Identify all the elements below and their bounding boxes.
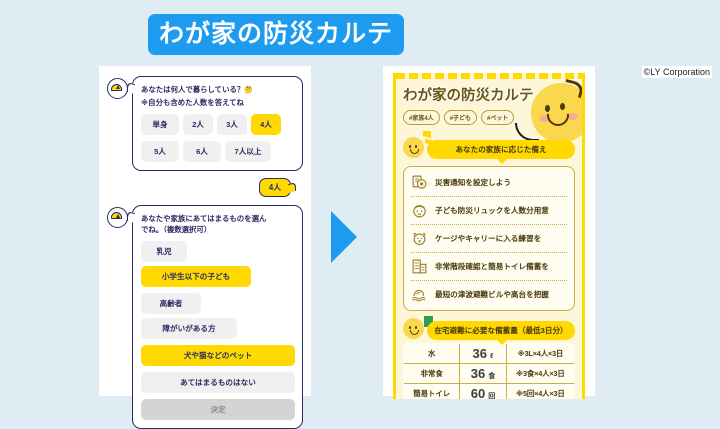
mascot-mini-icon xyxy=(403,137,424,158)
stock-item: 非常食 xyxy=(404,364,460,384)
option-6nin[interactable]: 6人 xyxy=(183,141,221,162)
option-2nin[interactable]: 2人 xyxy=(183,114,213,135)
submit-button[interactable]: 決定 xyxy=(141,399,295,420)
building-icon xyxy=(411,258,428,275)
card-header: わが家の防災カルテ #家族4人 #子ども #ペット xyxy=(403,89,575,133)
option-4nin-selected[interactable]: 4人 xyxy=(251,114,281,135)
bot-message-1: あなたは何人で暮らしている？🤔 ※自分も含めた人数を答えてね 単身 2人 3人 … xyxy=(107,76,303,171)
list-item-label: 子ども防災リュックを人数分用意 xyxy=(435,205,549,216)
question-text-2: あなたや家族にあてはまるものを選ん でね。（複数選択可） xyxy=(141,213,295,235)
list-item-label: 災害通知を設定しよう xyxy=(435,177,511,188)
dog-face-icon xyxy=(411,230,428,247)
stock-unit: ℓ xyxy=(490,353,493,360)
option-pet-selected[interactable]: 犬や猫などのペット xyxy=(141,345,295,366)
stock-amount: 60回 xyxy=(460,384,506,400)
option-elderly[interactable]: 高齢者 xyxy=(141,293,201,314)
option-row-1: 乳児 小学生以下の子ども xyxy=(141,241,295,287)
question-line2: ※自分も含めた人数を答えてね xyxy=(141,98,244,107)
flow-arrow-right-icon xyxy=(331,211,357,263)
stock-note: ※5回×4人×3日 xyxy=(506,384,574,400)
list-item-label: 非常階段確認と簡易トイレ備蓄を xyxy=(435,261,549,272)
mascot-mini-flag-icon xyxy=(403,318,424,339)
question-text-1: あなたは何人で暮らしている？🤔 ※自分も含めた人数を答えてね xyxy=(141,84,295,108)
notification-document-icon xyxy=(411,174,428,191)
option-disability[interactable]: 障がいがある方 xyxy=(141,318,237,339)
banner-stockpile: 在宅避難に必要な備蓄量（最低3日分） xyxy=(427,321,575,340)
message-bubble: あなたや家族にあてはまるものを選ん でね。（複数選択可） 乳児 小学生以下の子ど… xyxy=(132,205,303,429)
child-face-icon xyxy=(411,202,428,219)
table-row: 水 36ℓ ※3L×4人×3日 xyxy=(404,344,575,364)
tag-family: #家族4人 xyxy=(403,110,440,125)
mascot-face-icon xyxy=(531,83,585,143)
stock-amount-value: 36 xyxy=(473,346,487,361)
checklist-box: 災害通知を設定しよう 子ども防災リュックを人数分用意 xyxy=(403,166,575,311)
banner-2-row: 在宅避難に必要な備蓄量（最低3日分） xyxy=(403,318,575,340)
user-reply-row: 4人 xyxy=(107,178,291,197)
question-line1: あなたは何人で暮らしている？ xyxy=(141,85,244,94)
table-row: 非常食 36食 ※3食×4人×3日 xyxy=(404,364,575,384)
thinking-emoji-icon: 🤔 xyxy=(244,87,253,94)
option-nyuuji[interactable]: 乳児 xyxy=(141,241,187,262)
list-item: 最短の津波避難ビルや高台を把握 xyxy=(411,281,567,308)
helmet-avatar-icon xyxy=(107,78,128,99)
card-dashed-top-border xyxy=(396,73,582,79)
stock-item: 簡易トイレ xyxy=(404,384,460,400)
copyright-text: ©LY Corporation xyxy=(642,66,712,78)
tag-child: #子ども xyxy=(444,110,477,125)
stock-note: ※3食×4人×3日 xyxy=(506,364,574,384)
stock-amount: 36食 xyxy=(460,364,506,384)
option-row-2: 5人 6人 7人以上 xyxy=(141,141,295,162)
helmet-avatar-icon xyxy=(107,207,128,228)
table-row: 簡易トイレ 60回 ※5回×4人×3日 xyxy=(404,384,575,400)
stock-amount: 36ℓ xyxy=(460,344,506,364)
option-row-2: 高齢者 障がいがある方 xyxy=(141,293,295,339)
list-item: 非常階段確認と簡易トイレ備蓄を xyxy=(411,253,567,281)
list-item-label: ケージやキャリーに入る練習を xyxy=(435,233,541,244)
list-item-label: 最短の津波避難ビルや高台を把握 xyxy=(435,289,549,300)
list-item: 災害通知を設定しよう xyxy=(411,169,567,197)
stock-unit: 回 xyxy=(488,393,495,399)
stock-item: 水 xyxy=(404,344,460,364)
result-panel: わが家の防災カルテ #家族4人 #子ども #ペット あなたの家族に応じた備え xyxy=(383,66,595,396)
option-7nin-ijou[interactable]: 7人以上 xyxy=(225,141,271,162)
question-line2: でね。（複数選択可） xyxy=(141,225,211,234)
bot-message-2: あなたや家族にあてはまるものを選ん でね。（複数選択可） 乳児 小学生以下の子ど… xyxy=(107,205,303,429)
banner-1-row: あなたの家族に応じた備え xyxy=(403,137,575,159)
stock-unit: 食 xyxy=(488,373,495,380)
option-tanshin[interactable]: 単身 xyxy=(141,114,179,135)
chat-panel: あなたは何人で暮らしている？🤔 ※自分も含めた人数を答えてね 単身 2人 3人 … xyxy=(99,66,311,396)
option-row-1: 単身 2人 3人 4人 xyxy=(141,114,295,135)
option-row-4: あてはまるものはない xyxy=(141,372,295,393)
message-bubble: あなたは何人で暮らしている？🤔 ※自分も含めた人数を答えてね 単身 2人 3人 … xyxy=(132,76,303,171)
stock-note: ※3L×4人×3日 xyxy=(506,344,574,364)
tag-pet: #ペット xyxy=(481,110,514,125)
option-3nin[interactable]: 3人 xyxy=(217,114,247,135)
question-line1: あなたや家族にあてはまるものを選ん xyxy=(141,214,266,223)
page-title: わが家の防災カルテ xyxy=(159,22,393,47)
bousai-karte-card: わが家の防災カルテ #家族4人 #子ども #ペット あなたの家族に応じた備え xyxy=(393,73,585,399)
user-reply-bubble: 4人 xyxy=(259,178,291,197)
stock-table: 水 36ℓ ※3L×4人×3日 非常食 36食 ※3食×4人×3日 簡易トイレ … xyxy=(403,343,575,399)
option-row-3: 犬や猫などのペット xyxy=(141,345,295,366)
chat-thread: あなたは何人で暮らしている？🤔 ※自分も含めた人数を答えてね 単身 2人 3人 … xyxy=(99,66,311,396)
list-item: ケージやキャリーに入る練習を xyxy=(411,225,567,253)
stock-amount-value: 60 xyxy=(471,386,485,399)
list-item: 子ども防災リュックを人数分用意 xyxy=(411,197,567,225)
stock-amount-value: 36 xyxy=(471,366,485,381)
page-title-bar: わが家の防災カルテ xyxy=(148,14,404,55)
option-child-selected[interactable]: 小学生以下の子ども xyxy=(141,266,251,287)
banner-preparedness: あなたの家族に応じた備え xyxy=(427,140,575,159)
option-none[interactable]: あてはまるものはない xyxy=(141,372,295,393)
submit-row: 決定 xyxy=(141,399,295,420)
option-5nin[interactable]: 5人 xyxy=(141,141,179,162)
tsunami-wave-icon xyxy=(411,286,428,303)
